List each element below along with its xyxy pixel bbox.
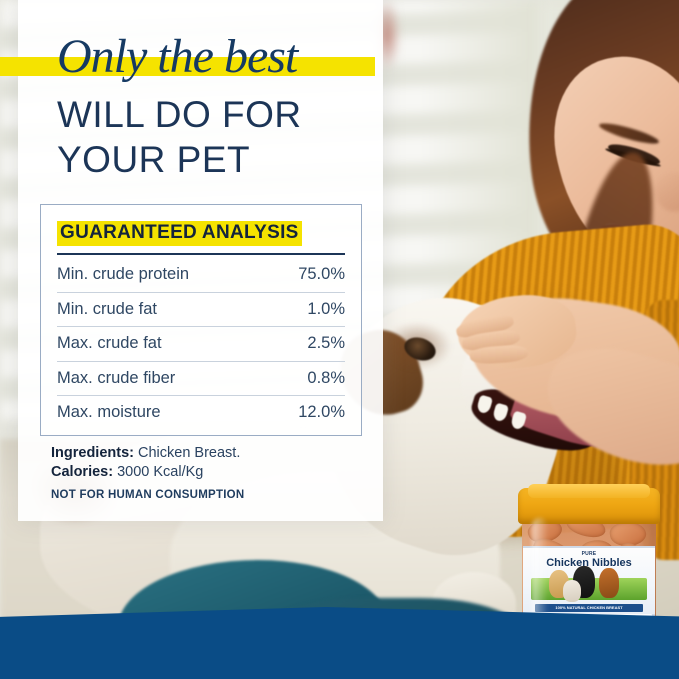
calories-line: Calories: 3000 Kcal/Kg <box>51 463 371 482</box>
analysis-row: Max. crude fat 2.5% <box>57 327 345 362</box>
calories-value: 3000 Kcal/Kg <box>117 464 203 480</box>
ingredients-line: Ingredients: Chicken Breast. <box>51 444 371 463</box>
ingredients-value: Chicken Breast. <box>138 445 240 461</box>
analysis-row: Min. crude fat 1.0% <box>57 293 345 328</box>
bottom-brand-band <box>0 633 679 679</box>
analysis-row-value: 75.0% <box>298 265 345 284</box>
headline-caps-line-2: YOUR PET <box>57 137 387 182</box>
analysis-row-label: Min. crude protein <box>57 265 189 284</box>
jar-label-claim: 100% NATURAL CHICKEN BREAST <box>535 604 643 612</box>
analysis-row-value: 1.0% <box>307 300 345 319</box>
details-block: Ingredients: Chicken Breast. Calories: 3… <box>51 444 371 482</box>
analysis-row-value: 2.5% <box>307 334 345 353</box>
analysis-row-label: Max. crude fat <box>57 334 162 353</box>
advertisement-image: PURE Chicken Nibbles 100% NATURAL CHICKE… <box>0 0 679 679</box>
ingredients-label: Ingredients: <box>51 445 134 461</box>
calories-label: Calories: <box>51 464 113 480</box>
card-title-rule <box>57 253 345 255</box>
analysis-row: Max. moisture 12.0% <box>57 396 345 430</box>
jar-label-dog-art <box>563 580 581 602</box>
analysis-row: Max. crude fiber 0.8% <box>57 362 345 397</box>
analysis-row-value: 12.0% <box>298 403 345 422</box>
analysis-rows: Min. crude protein 75.0% Min. crude fat … <box>57 258 345 430</box>
analysis-row-label: Min. crude fat <box>57 300 157 319</box>
analysis-row-label: Max. crude fiber <box>57 369 175 388</box>
disclaimer-text: NOT FOR HUMAN CONSUMPTION <box>51 489 244 501</box>
headline-caps: WILL DO FOR YOUR PET <box>57 92 387 182</box>
card-title-wrap: GUARANTEED ANALYSIS <box>57 221 302 246</box>
jar-lid-top <box>528 484 650 498</box>
headline-caps-line-1: WILL DO FOR <box>57 92 387 137</box>
card-title: GUARANTEED ANALYSIS <box>57 221 302 246</box>
jar-label-dog-art <box>599 568 619 598</box>
analysis-row-value: 0.8% <box>307 369 345 388</box>
guaranteed-analysis-card: GUARANTEED ANALYSIS Min. crude protein 7… <box>40 204 362 436</box>
analysis-row-label: Max. moisture <box>57 403 161 422</box>
headline-script: Only the best <box>57 33 387 81</box>
analysis-row: Min. crude protein 75.0% <box>57 258 345 293</box>
